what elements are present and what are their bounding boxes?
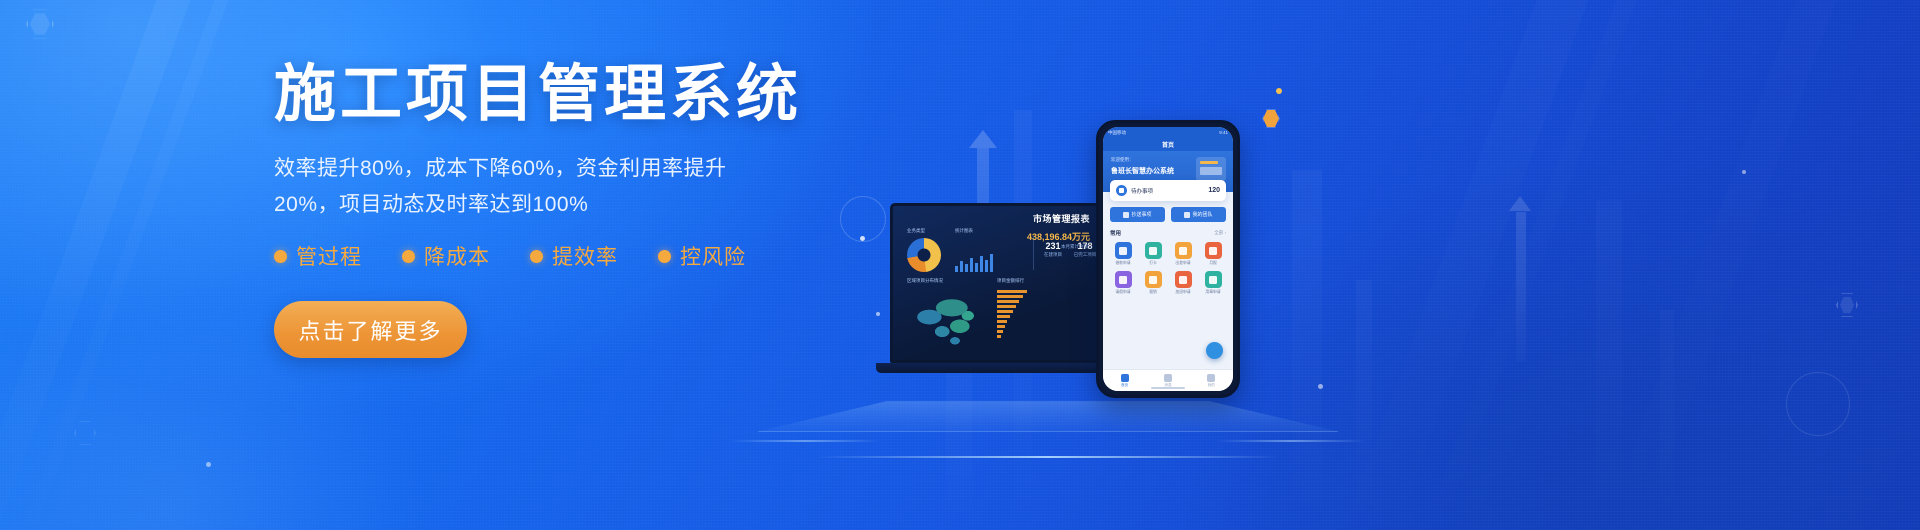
china-map-chart: [907, 288, 987, 354]
decor-dot: [1742, 170, 1746, 174]
app-label: 月报: [1199, 261, 1227, 266]
todo-card-left: 待办事项: [1116, 185, 1153, 196]
chart-icon: [1205, 242, 1222, 259]
panel-label-business-type: 业务类型: [907, 228, 925, 234]
feature-list: 管过程 降成本 提效率 控风险: [274, 241, 834, 271]
stamp-icon: [1205, 271, 1222, 288]
feature-item-manage-process: 管过程: [274, 241, 362, 271]
app-tile-punch[interactable]: 打卡: [1139, 242, 1167, 266]
laptop-mockup: 市场管理报表 438,196.84万元 本月累计金额 业务类型 统计图表 区域项…: [890, 203, 1100, 381]
panel-label-statistics: 统计图表: [955, 228, 973, 234]
background-diagonal-stripe: [0, 0, 212, 530]
overtime-icon: [1175, 271, 1192, 288]
home-icon: [1121, 374, 1129, 382]
feature-item-reduce-cost: 降成本: [402, 241, 490, 271]
action-label: 我的团队: [1192, 211, 1212, 218]
app-tile-leave[interactable]: 请假申请: [1109, 271, 1137, 295]
status-carrier: 中国移动: [1108, 130, 1126, 136]
page-title: 施工项目管理系统: [274, 62, 834, 129]
phone-mockup: 中国移动 9:41 首页 欢迎使用： 鲁班长智慧办公系统 待办事项 1: [1096, 120, 1240, 398]
panel-label-region-map: 区域项目分布情况: [907, 278, 943, 284]
banner-subtitle: 效率提升80%，成本下降60%，资金利用率提升 20%，项目动态及时率达到100…: [274, 151, 794, 223]
pedestal-surface: [757, 401, 1339, 431]
forward-icon: [1123, 212, 1129, 218]
feature-label: 管过程: [296, 241, 362, 271]
promo-banner: 施工项目管理系统 效率提升80%，成本下降60%，资金利用率提升 20%，项目动…: [0, 0, 1920, 530]
subtitle-line-1: 效率提升80%，成本下降60%，资金利用率提升: [274, 151, 794, 187]
subtitle-line-2: 20%，项目动态及时率达到100%: [274, 187, 794, 223]
background-bar: [1356, 280, 1372, 530]
laptop-base: [876, 363, 1114, 373]
decor-dot: [876, 312, 880, 316]
mini-bar-chart: [955, 240, 993, 272]
app-label: 打卡: [1139, 261, 1167, 266]
metric-label: 已完工项目: [1071, 252, 1099, 258]
section-header-common: 常用 全部 ›: [1110, 229, 1226, 237]
panel-label-amount-rank: 项目金额排行: [997, 278, 1024, 284]
background-bar: [1660, 310, 1674, 530]
app-tile-monthly-report[interactable]: 月报: [1199, 242, 1227, 266]
feature-label: 降成本: [424, 241, 490, 271]
bullet-dot-icon: [530, 250, 543, 263]
todo-label: 待办事项: [1131, 187, 1153, 195]
dashboard-divider: [1033, 236, 1034, 270]
background-diagonal-stripe: [0, 0, 250, 530]
todo-icon: [1116, 185, 1127, 196]
background-diagonal-stripe: [1402, 0, 1659, 530]
horizontal-bar-chart: [997, 290, 1027, 338]
metric-completed: 178 已完工项目: [1071, 240, 1099, 258]
growth-arrow-shaft: [1516, 212, 1526, 362]
todo-count: 120: [1208, 187, 1220, 194]
app-label: 报销: [1139, 290, 1167, 295]
tab-home[interactable]: 首页: [1103, 370, 1146, 391]
phone-status-bar: 中国移动 9:41: [1103, 127, 1233, 138]
dashboard: 市场管理报表 438,196.84万元 本月累计金额 业务类型 统计图表 区域项…: [893, 206, 1097, 360]
floating-action-button[interactable]: [1206, 342, 1223, 359]
phone-tab-bar: 首页 消息 我的: [1103, 369, 1233, 391]
tab-label: 首页: [1121, 383, 1128, 388]
phone-body: 中国移动 9:41 首页 欢迎使用： 鲁班长智慧办公系统 待办事项 1: [1096, 120, 1240, 398]
metric-value: 231: [1039, 241, 1067, 251]
donut-chart: [907, 238, 941, 272]
pedestal-highlight-line: [1216, 440, 1366, 442]
bullet-dot-icon: [274, 250, 287, 263]
app-tile-seal[interactable]: 用章申请: [1199, 271, 1227, 295]
nav-title: 首页: [1162, 140, 1174, 149]
app-tile-business-trip[interactable]: 出差申请: [1169, 242, 1197, 266]
app-grid: 借款申请 打卡 出差申请 月报: [1109, 242, 1227, 295]
background-diagonal-stripe: [1322, 0, 1611, 530]
background-bar: [1596, 200, 1622, 530]
clock-icon: [1145, 242, 1162, 259]
laptop-screen: 市场管理报表 438,196.84万元 本月累计金额 业务类型 统计图表 区域项…: [890, 203, 1100, 363]
quick-actions: 抄送事项 我的团队: [1110, 207, 1226, 222]
app-label: 用章申请: [1199, 290, 1227, 295]
banner-copy: 施工项目管理系统 效率提升80%，成本下降60%，资金利用率提升 20%，项目动…: [274, 62, 834, 358]
action-my-team[interactable]: 我的团队: [1171, 207, 1226, 222]
message-icon: [1164, 374, 1172, 382]
app-label: 借款申请: [1109, 261, 1137, 266]
metric-in-progress: 231 在建项目: [1039, 240, 1067, 258]
metric-value: 178: [1071, 241, 1099, 251]
decor-ring: [1786, 372, 1850, 436]
action-label: 抄送事项: [1131, 211, 1151, 218]
tab-profile[interactable]: 我的: [1190, 370, 1233, 391]
decor-dot: [1318, 384, 1323, 389]
feature-label: 控风险: [680, 241, 746, 271]
section-more-link[interactable]: 全部 ›: [1214, 230, 1226, 236]
hexagon-accent-icon: [1263, 109, 1279, 128]
decor-dot: [206, 462, 211, 467]
metric-label: 在建项目: [1039, 252, 1067, 258]
app-label: 加班申请: [1169, 290, 1197, 295]
decor-ring: [840, 196, 886, 242]
phone-screen: 中国移动 9:41 首页 欢迎使用： 鲁班长智慧办公系统 待办事项 1: [1103, 127, 1233, 391]
feature-label: 提效率: [552, 241, 618, 271]
home-indicator: [1151, 387, 1185, 389]
feature-item-control-risk: 控风险: [658, 241, 746, 271]
hexagon-outline-icon: [1262, 108, 1280, 129]
plane-icon: [1175, 242, 1192, 259]
app-label: 出差申请: [1169, 261, 1197, 266]
user-icon: [1207, 374, 1215, 382]
dashboard-title: 市场管理报表: [1033, 212, 1090, 225]
growth-arrow-head: [1509, 196, 1531, 211]
money-icon: [1115, 242, 1132, 259]
calendar-icon: [1115, 271, 1132, 288]
hexagon-filled-icon: [1840, 296, 1854, 314]
team-icon: [1184, 212, 1190, 218]
app-tile-reimbursement[interactable]: 报销: [1139, 271, 1167, 295]
background-diagonal-stripe: [1582, 0, 1859, 530]
hexagon-outline-icon: [26, 8, 54, 40]
app-tile-overtime[interactable]: 加班申请: [1169, 271, 1197, 295]
decor-dot: [860, 236, 865, 241]
action-forwarded-items[interactable]: 抄送事项: [1110, 207, 1165, 222]
hexagon-outline-icon: [1836, 292, 1858, 318]
learn-more-button[interactable]: 点击了解更多: [274, 301, 467, 358]
background-bar: [1292, 170, 1322, 530]
decor-dot: [1276, 88, 1282, 94]
section-title: 常用: [1110, 229, 1121, 237]
app-label: 请假申请: [1109, 290, 1137, 295]
feature-item-improve-efficiency: 提效率: [530, 241, 618, 271]
bullet-dot-icon: [658, 250, 671, 263]
status-time: 9:41: [1219, 130, 1228, 135]
hero-illustration-icon: [1196, 157, 1226, 181]
pedestal-highlight-line: [730, 440, 880, 442]
hexagon-outline-icon: [74, 420, 96, 446]
hexagon-filled-icon: [30, 12, 50, 36]
tab-label: 我的: [1208, 383, 1215, 388]
app-tile-loan[interactable]: 借款申请: [1109, 242, 1137, 266]
bullet-dot-icon: [402, 250, 415, 263]
todo-card[interactable]: 待办事项 120: [1110, 180, 1226, 201]
receipt-icon: [1145, 271, 1162, 288]
pedestal-highlight-line: [816, 456, 1280, 458]
growth-arrow-head: [969, 130, 997, 148]
phone-nav-bar: 首页: [1103, 138, 1233, 151]
